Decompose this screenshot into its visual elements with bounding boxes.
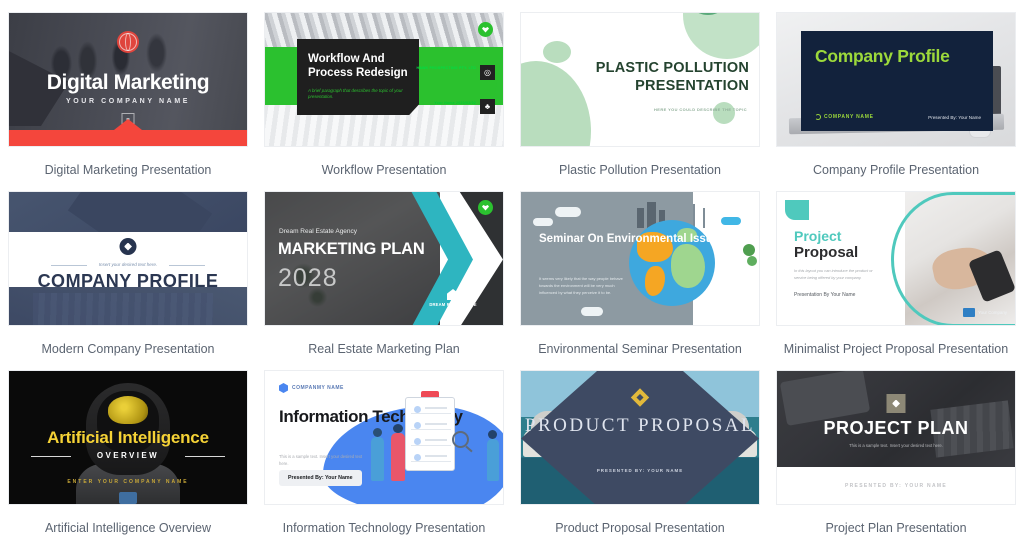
template-thumbnail[interactable]: Digital Marketing YOUR COMPANY NAME (8, 12, 248, 147)
slide-preview: Insert your desired text here. COMPANY P… (9, 192, 247, 325)
slide-company-name: ENTER YOUR COMPANY NAME (9, 479, 247, 485)
template-thumbnail[interactable]: Seminar On Environmental Issues It seems… (520, 191, 760, 326)
template-card-plastic-pollution[interactable]: PLASTIC POLLUTION PRESENTATION HERE YOU … (512, 0, 768, 179)
slide-title-line1: Project (794, 228, 841, 244)
slide-preview: Workflow And Process Redesign A brief pa… (265, 13, 503, 146)
building-icon (963, 308, 975, 317)
template-card-project-plan[interactable]: PROJECT PLAN This is a sample text. Inse… (768, 358, 1024, 537)
building-photo-bottom (9, 287, 247, 325)
slide-company-name: COMPANY NAME (815, 114, 874, 120)
slide-footer: PRESENTED BY: YOUR NAME (777, 467, 1015, 504)
slide-author-label: Your Name 2020/02/02 (434, 101, 476, 106)
company-name-label: COMPANMY NAME (292, 385, 344, 391)
seascape-photo-right (683, 371, 759, 504)
template-thumbnail[interactable]: PLASTIC POLLUTION PRESENTATION HERE YOU … (520, 12, 760, 147)
title-panel: Workflow And Process Redesign A brief pa… (297, 39, 419, 115)
template-caption: Artificial Intelligence Overview (6, 521, 250, 536)
windmill-shape (703, 208, 705, 228)
slide-subtitle: HERE YOU COULD DESCRIBE THE TOPIC (654, 107, 747, 112)
clipboard-row (411, 403, 451, 414)
slide-presented-by-button: Presented By: Your Name (279, 470, 362, 486)
decorative-circle (683, 13, 759, 59)
slide-preview: Project Proposal In this layout you can … (777, 192, 1015, 325)
slide-title: PRODUCT PROPOSAL (521, 415, 759, 437)
heart-badge-icon (478, 200, 493, 215)
slide-title: Digital Marketing (9, 71, 247, 95)
clipboard-row (411, 435, 451, 446)
template-card-minimalist-proposal[interactable]: Project Proposal In this layout you can … (768, 179, 1024, 358)
slide-presented-by: Presented By: Your Name (928, 115, 981, 120)
avatar (414, 454, 421, 461)
seascape-photo-left (521, 371, 597, 504)
slide-presented-by: PRESENTED BY: YOUR NAME (521, 468, 759, 473)
line (425, 407, 447, 409)
template-caption: Real Estate Marketing Plan (262, 342, 506, 357)
slide-preview: Seminar On Environmental Issues It seems… (521, 192, 759, 325)
slide-subtitle: This is a sample text. Insert your desir… (777, 443, 1015, 448)
leaf-logo-icon (815, 114, 821, 120)
slide-title: Artificial Intelligence (9, 428, 247, 448)
template-caption: Information Technology Presentation (262, 521, 506, 536)
template-thumbnail[interactable]: Workflow And Process Redesign A brief pa… (264, 12, 504, 147)
cloud-icon (533, 218, 553, 226)
slide-subtitle: OVERVIEW (9, 451, 247, 460)
cloud-icon (721, 217, 741, 225)
template-caption: Minimalist Project Proposal Presentation (774, 342, 1018, 357)
template-card-information-technology[interactable]: COMPANMY NAME Information Technology Thi… (256, 358, 512, 537)
template-caption: Project Plan Presentation (774, 521, 1018, 536)
diamond-icon (631, 388, 649, 406)
slide-subtitle: Insert your desired text here. (9, 262, 247, 267)
slide-preview: Dream Real Estate Agency MARKETING PLAN … (265, 192, 503, 325)
chest-chip-shape (119, 492, 137, 504)
brand-logo-label: DREAM REAL ESTATE (425, 302, 481, 307)
clipboard-row (411, 451, 451, 462)
decorative-circle (543, 41, 571, 63)
slide-preview: PLASTIC POLLUTION PRESENTATION HERE YOU … (521, 13, 759, 146)
slide-preview: COMPANMY NAME Information Technology Thi… (265, 371, 503, 504)
template-card-company-profile[interactable]: Company Profile COMPANY NAME Presented B… (768, 0, 1024, 179)
slide-title: Workflow And Process Redesign (308, 52, 408, 81)
template-gallery-grid: Digital Marketing YOUR COMPANY NAME Digi… (0, 0, 1024, 537)
template-thumbnail[interactable]: Project Proposal In this layout you can … (776, 191, 1016, 326)
slide-year: 2028 (278, 264, 338, 293)
slide-body: It seems very likely that the way people… (539, 276, 631, 296)
template-card-environmental-seminar[interactable]: Seminar On Environmental Issues It seems… (512, 179, 768, 358)
template-caption: Plastic Pollution Presentation (518, 163, 762, 178)
slide-title-line2: Proposal (794, 244, 858, 261)
globe-chip-icon: ◎ (480, 65, 495, 80)
template-card-artificial-intelligence[interactable]: Artificial Intelligence OVERVIEW ENTER Y… (0, 358, 256, 537)
slide-company-name: COMPANMY NAME (279, 383, 344, 393)
slide-title: Company Profile (815, 47, 950, 67)
slide-title: PROJECT PLAN (777, 418, 1015, 439)
cloud-icon (555, 207, 581, 217)
slide-preview: Digital Marketing YOUR COMPANY NAME (9, 13, 247, 146)
cloud-icon (581, 307, 603, 316)
slide-body: A brief paragraph that describes the top… (308, 88, 408, 101)
template-caption: Environmental Seminar Presentation (518, 342, 762, 357)
slide-body: In this layout you can introduce the pro… (794, 268, 876, 281)
template-thumbnail[interactable]: Company Profile COMPANY NAME Presented B… (776, 12, 1016, 147)
avatar (414, 406, 421, 413)
template-caption: Workflow Presentation (262, 163, 506, 178)
line (425, 423, 447, 425)
avatar (414, 422, 421, 429)
person-illustration (371, 437, 384, 481)
slide-presented-by: Presentation By Your Name (794, 292, 855, 298)
slide-presented-by: PRESENTED BY: YOUR NAME (845, 483, 947, 489)
avatar (414, 438, 421, 445)
template-thumbnail[interactable]: PROJECT PLAN This is a sample text. Inse… (776, 370, 1016, 505)
template-thumbnail[interactable]: COMPANMY NAME Information Technology Thi… (264, 370, 504, 505)
template-thumbnail[interactable]: Insert your desired text here. COMPANY P… (8, 191, 248, 326)
home-icon (447, 289, 460, 300)
slide-agency-name: Dream Real Estate Agency (279, 228, 357, 235)
decorative-ring (891, 192, 1015, 325)
line (425, 439, 447, 441)
template-card-real-estate[interactable]: Dream Real Estate Agency MARKETING PLAN … (256, 179, 512, 358)
company-name-label: COMPANY NAME (824, 114, 874, 120)
template-thumbnail[interactable]: Dream Real Estate Agency MARKETING PLAN … (264, 191, 504, 326)
factory-shape (637, 208, 644, 228)
slide-preview: PRODUCT PROPOSAL PRESENTED BY: YOUR NAME (521, 371, 759, 504)
template-card-product-proposal[interactable]: PRODUCT PROPOSAL PRESENTED BY: YOUR NAME… (512, 358, 768, 537)
slide-title: COMPANY PROFILE (9, 271, 247, 292)
heart-badge-icon (478, 22, 493, 37)
slide-body: This is a sample text. Insert your desir… (279, 453, 365, 467)
magnifier-icon (452, 431, 469, 448)
tree-icon (743, 244, 755, 256)
slide-subtitle: YOUR COMPANY NAME (9, 98, 247, 105)
template-thumbnail[interactable]: PRODUCT PROPOSAL PRESENTED BY: YOUR NAME (520, 370, 760, 505)
slide-title: Seminar On Environmental Issues (539, 232, 726, 247)
slide-preview: PROJECT PLAN This is a sample text. Inse… (777, 371, 1015, 504)
windmill-shape (693, 204, 695, 228)
company-badge-label: Your Company (978, 310, 1007, 315)
brand-logo: DREAM REAL ESTATE (425, 289, 481, 307)
accent-band (9, 130, 247, 146)
brain-icon (108, 396, 148, 424)
tree-icon (747, 256, 757, 266)
decorative-circle (713, 102, 735, 124)
company-badge: Your Company (963, 308, 1007, 317)
template-caption: Company Profile Presentation (774, 163, 1018, 178)
template-caption: Product Proposal Presentation (518, 521, 762, 536)
template-card-modern-company[interactable]: Insert your desired text here. COMPANY P… (0, 179, 256, 358)
slide-panel: Company Profile COMPANY NAME Presented B… (801, 31, 993, 131)
hexagon-logo-icon (279, 383, 288, 393)
globe-icon (117, 31, 139, 53)
landmass (671, 244, 705, 288)
template-card-digital-marketing[interactable]: Digital Marketing YOUR COMPANY NAME Digi… (0, 0, 256, 179)
slide-company-label: HAWK PROSPECTING PTY. LTD (417, 66, 476, 71)
template-thumbnail[interactable]: Artificial Intelligence OVERVIEW ENTER Y… (8, 370, 248, 505)
person-illustration (487, 439, 499, 481)
template-card-workflow[interactable]: Workflow And Process Redesign A brief pa… (256, 0, 512, 179)
template-caption: Modern Company Presentation (6, 342, 250, 357)
clipboard-illustration (405, 397, 455, 471)
person-chip-icon: ♣ (480, 99, 495, 114)
decorative-corner (785, 200, 809, 220)
landmass (645, 266, 665, 296)
slide-preview: Artificial Intelligence OVERVIEW ENTER Y… (9, 371, 247, 504)
diamond-logo-icon (120, 238, 137, 255)
line (425, 455, 447, 457)
slide-title: PLASTIC POLLUTION PRESENTATION (581, 59, 749, 95)
slide-title: MARKETING PLAN (278, 240, 425, 259)
clipboard-row (411, 419, 451, 430)
building-photo-top (9, 192, 247, 232)
diamond-badge-icon (887, 394, 906, 413)
person-illustration (391, 433, 405, 481)
template-caption: Digital Marketing Presentation (6, 163, 250, 178)
slide-preview: Company Profile COMPANY NAME Presented B… (777, 13, 1015, 146)
